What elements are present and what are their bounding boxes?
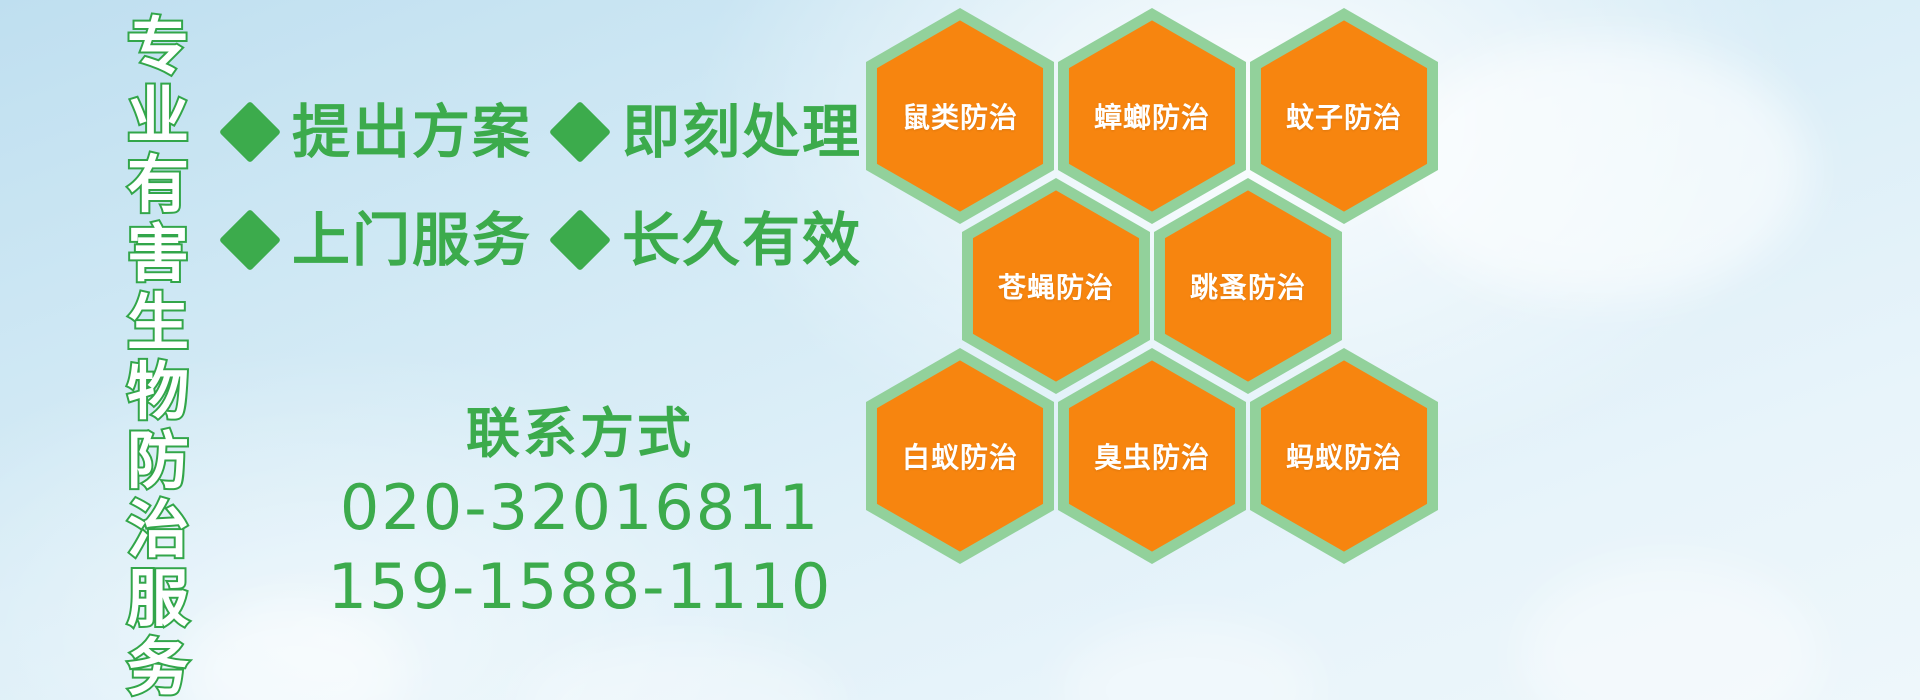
- phone-number-mobile[interactable]: 159-1588-1110: [300, 547, 860, 626]
- service-hex-termite[interactable]: 白蚁防治: [866, 348, 1054, 564]
- headline-char: 专: [127, 12, 189, 81]
- headline-char: 治: [127, 495, 189, 564]
- headline-char: 有: [127, 150, 189, 219]
- feature-label: 长久有效: [622, 211, 862, 269]
- contact-block: 联系方式 020-32016811 159-1588-1110: [300, 400, 860, 626]
- contact-title: 联系方式: [300, 400, 860, 468]
- feature-list: 提出方案 即刻处理 上门服务 长久有效: [228, 78, 868, 294]
- service-label: 鼠类防治: [902, 96, 1018, 136]
- service-hex-bedbug[interactable]: 臭虫防治: [1058, 348, 1246, 564]
- headline-char: 害: [127, 219, 189, 288]
- background-blob: [520, 640, 840, 700]
- feature-item-immediate: 即刻处理: [558, 103, 862, 161]
- headline-char: 业: [127, 81, 189, 150]
- background-blob: [1390, 40, 1810, 300]
- background-blob: [1520, 560, 1820, 700]
- pest-control-banner: 专 业 有 害 生 物 防 治 服 务 提出方案 即刻处理 上门服务: [0, 0, 1920, 700]
- diamond-bullet-icon: [549, 101, 611, 163]
- diamond-bullet-icon: [219, 101, 281, 163]
- service-hex-ant[interactable]: 蚂蚁防治: [1250, 348, 1438, 564]
- diamond-bullet-icon: [219, 209, 281, 271]
- service-label: 跳蚤防治: [1190, 266, 1306, 306]
- background-blob: [1060, 620, 1320, 700]
- feature-item-onsite: 上门服务: [228, 211, 532, 269]
- feature-item-proposal: 提出方案: [228, 103, 532, 161]
- feature-row: 上门服务 长久有效: [228, 186, 868, 294]
- phone-number-landline[interactable]: 020-32016811: [300, 468, 860, 547]
- feature-label: 提出方案: [292, 103, 532, 161]
- service-label: 蟑螂防治: [1094, 96, 1210, 136]
- headline-char: 生: [127, 288, 189, 357]
- service-label: 蚊子防治: [1286, 96, 1402, 136]
- feature-label: 即刻处理: [622, 103, 862, 161]
- vertical-headline: 专 业 有 害 生 物 防 治 服 务: [108, 12, 208, 572]
- service-label: 蚂蚁防治: [1286, 436, 1402, 476]
- service-hexagon-grid: 鼠类防治 蟑螂防治 蚊子防治 苍蝇防治 跳蚤防治 白蚁防治: [852, 0, 1452, 560]
- feature-row: 提出方案 即刻处理: [228, 78, 868, 186]
- service-label: 苍蝇防治: [998, 266, 1114, 306]
- headline-char: 服: [127, 564, 189, 633]
- diamond-bullet-icon: [549, 209, 611, 271]
- headline-char: 物: [127, 357, 189, 426]
- feature-label: 上门服务: [292, 211, 532, 269]
- headline-char: 务: [127, 633, 189, 700]
- service-label: 臭虫防治: [1094, 436, 1210, 476]
- service-label: 白蚁防治: [902, 436, 1018, 476]
- feature-item-longlasting: 长久有效: [558, 211, 862, 269]
- headline-char: 防: [127, 426, 189, 495]
